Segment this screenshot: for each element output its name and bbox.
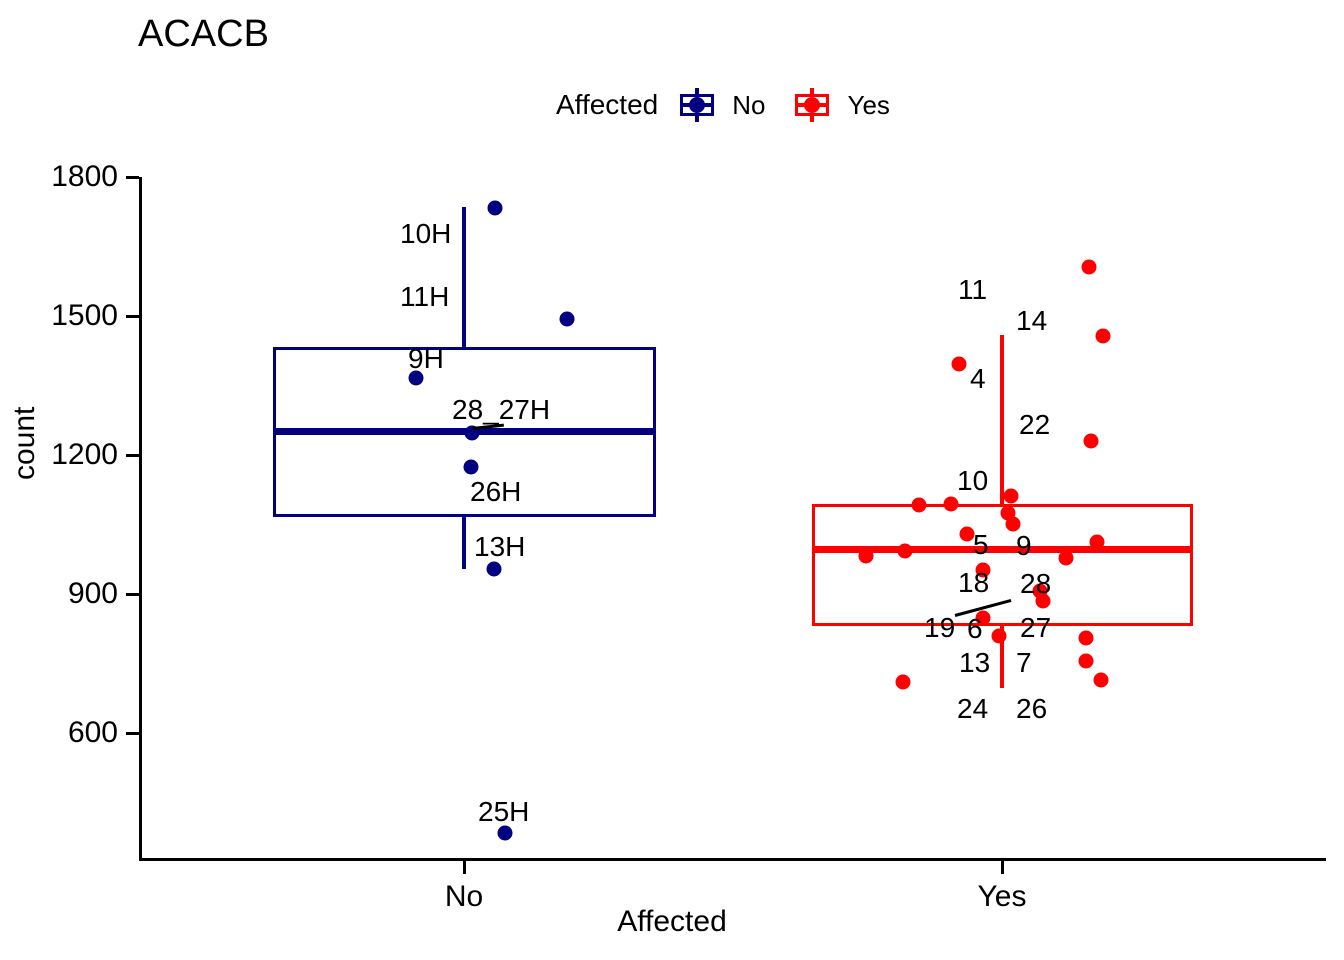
boxplot-whisker-upper-no	[462, 207, 466, 348]
data-point-label-yes: 19	[924, 613, 955, 643]
data-point-no[interactable]	[487, 562, 502, 577]
data-point-yes[interactable]	[944, 497, 959, 512]
data-point-label-yes: 22	[1019, 410, 1050, 440]
boxplot-whisker-lower-no	[462, 516, 466, 569]
data-point-label-no: 13H	[474, 532, 525, 562]
x-axis-tick-label: No	[445, 879, 483, 915]
data-point-label-yes: 27	[1020, 613, 1051, 643]
data-point-label-yes: 13	[959, 648, 990, 678]
data-point-yes[interactable]	[1079, 654, 1094, 669]
x-axis-tick	[463, 861, 466, 874]
data-point-yes[interactable]	[1096, 329, 1111, 344]
data-point-no[interactable]	[498, 826, 513, 841]
data-point-label-yes: 9	[1016, 531, 1032, 561]
boxplot-box-yes	[812, 504, 1193, 626]
data-point-yes[interactable]	[898, 544, 913, 559]
data-point-yes[interactable]	[1094, 673, 1109, 688]
y-axis-tick	[126, 176, 139, 179]
data-point-label-yes: 10	[957, 466, 988, 496]
data-point-yes[interactable]	[992, 629, 1007, 644]
y-axis-tick-label: 900	[68, 575, 118, 613]
boxplot-whisker-upper-yes	[1000, 335, 1004, 505]
data-point-yes[interactable]	[1059, 551, 1074, 566]
data-point-label-yes: 11	[958, 275, 987, 305]
data-point-yes[interactable]	[896, 675, 911, 690]
data-point-no[interactable]	[464, 460, 479, 475]
y-axis-tick	[126, 315, 139, 318]
chart-canvas: ACACB Affected No Yes count Affected 180…	[0, 0, 1344, 960]
y-axis-tick	[126, 732, 139, 735]
data-point-label-yes: 18	[958, 568, 989, 598]
data-point-label-no: 10H	[400, 219, 451, 249]
data-point-label-yes: 5	[973, 530, 989, 560]
data-point-label-yes: 28	[1020, 569, 1051, 599]
data-point-label-yes: 7	[1016, 648, 1032, 678]
data-point-no[interactable]	[488, 201, 503, 216]
data-point-yes[interactable]	[952, 357, 967, 372]
data-point-label-yes: 14	[1016, 306, 1047, 336]
data-point-label-yes: 6	[967, 614, 983, 644]
data-point-label-yes: 4	[970, 364, 986, 394]
x-axis-tick	[1001, 861, 1004, 874]
data-point-label-no: 28_27H	[452, 395, 550, 425]
plot-area: 180015001200900600NoYes10H11H9H28_27H26H…	[0, 0, 1344, 960]
data-point-yes[interactable]	[912, 498, 927, 513]
y-axis-tick	[126, 593, 139, 596]
data-point-yes[interactable]	[1004, 489, 1019, 504]
data-point-label-no: 25H	[478, 797, 529, 827]
data-point-no[interactable]	[560, 312, 575, 327]
y-axis-tick-label: 1500	[51, 297, 118, 335]
data-point-yes[interactable]	[1082, 260, 1097, 275]
data-point-label-yes: 26	[1016, 694, 1047, 724]
data-point-label-no: 26H	[470, 477, 521, 507]
y-axis-tick-label: 1200	[51, 436, 118, 474]
data-point-yes[interactable]	[1084, 434, 1099, 449]
data-point-label-yes: 24	[957, 694, 988, 724]
y-axis-tick-label: 1800	[51, 158, 118, 196]
data-point-label-no: 11H	[400, 282, 449, 312]
data-point-yes[interactable]	[1079, 631, 1094, 646]
y-axis-tick-label: 600	[68, 714, 118, 752]
data-point-yes[interactable]	[1090, 535, 1105, 550]
data-point-yes[interactable]	[859, 549, 874, 564]
x-axis-tick-label: Yes	[978, 879, 1027, 915]
data-point-label-no: 9H	[408, 344, 444, 374]
y-axis-tick	[126, 454, 139, 457]
